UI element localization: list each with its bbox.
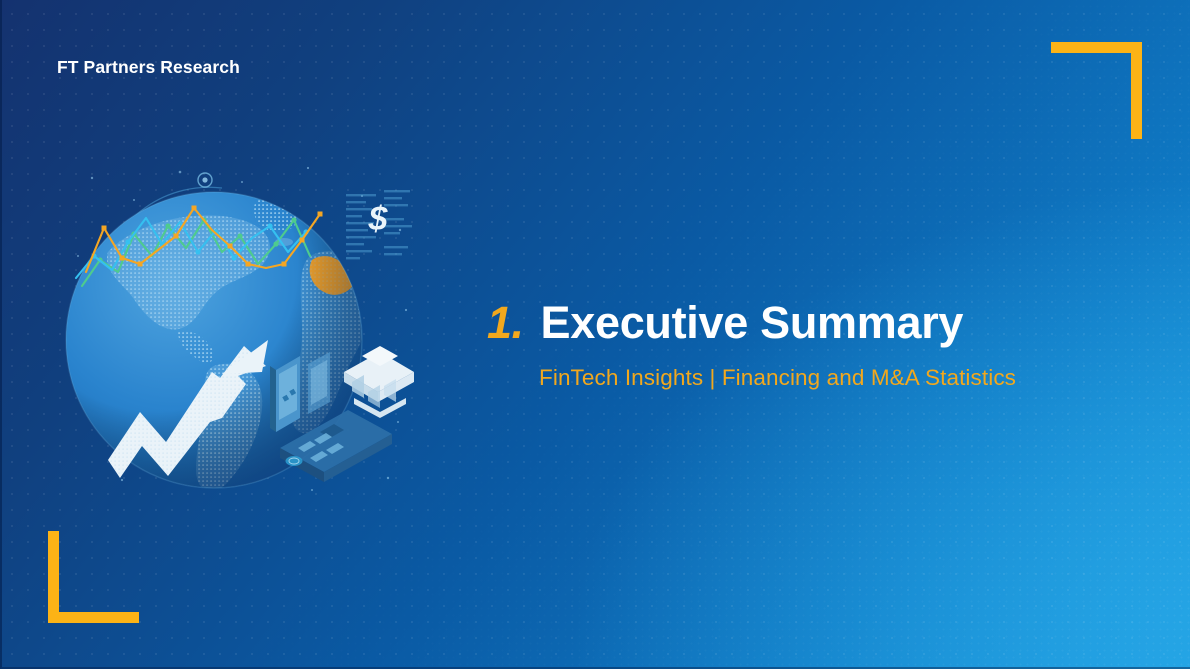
section-title-block: 1. Executive Summary FinTech Insights | … <box>487 300 1107 391</box>
section-subtitle: FinTech Insights | Financing and M&A Sta… <box>539 365 1107 391</box>
dollar-badge: $ <box>368 200 389 238</box>
slide-root: $ <box>0 0 1190 669</box>
globe-fintech-illustration: $ <box>62 160 422 510</box>
section-number: 1. <box>487 300 524 345</box>
section-title: Executive Summary <box>541 300 964 345</box>
corner-bracket-top-right <box>1051 42 1142 139</box>
section-title-row: 1. Executive Summary <box>487 300 1107 345</box>
svg-text:$: $ <box>368 200 389 238</box>
corner-bracket-bottom-left <box>48 531 139 623</box>
page-title: FT Partners Research <box>57 57 240 78</box>
